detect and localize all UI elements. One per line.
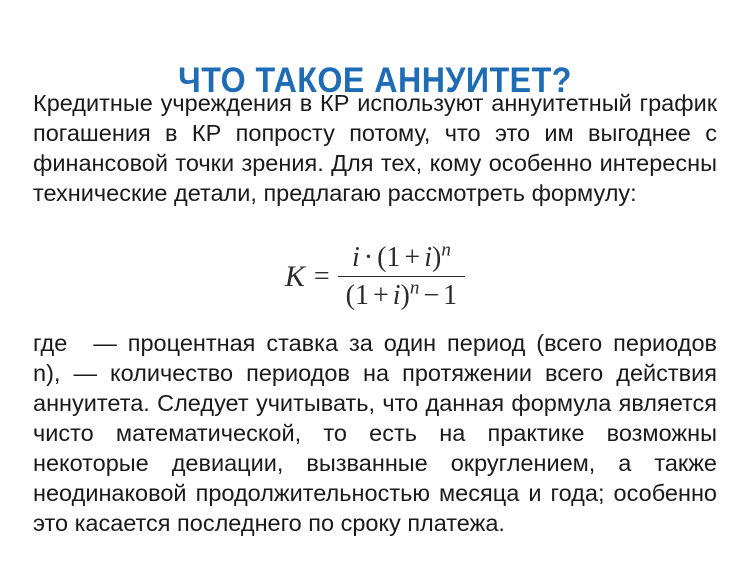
denominator-exponent: n: [410, 278, 420, 299]
denominator-one: 1: [355, 280, 369, 311]
numerator-one: 1: [386, 242, 400, 273]
numerator-close-paren: ): [432, 242, 441, 273]
annuity-coefficient-formula: K = i·(1+i)n (1+i)n−1: [285, 244, 465, 310]
where-description: — процентная ставка за один период (всег…: [33, 330, 717, 536]
article-body: Кредитные учреждения в КР используют анн…: [33, 88, 717, 208]
article-body-lower: где— процентная ставка за один период (в…: [33, 318, 717, 538]
paragraph-intro: Кредитные учреждения в КР используют анн…: [33, 88, 717, 208]
numerator-open-paren: (: [377, 242, 386, 273]
numerator-rate-2: i: [424, 242, 432, 273]
where-keyword: где: [33, 330, 67, 356]
denominator-plus-operator: +: [369, 280, 393, 311]
denominator-minus-operator: −: [419, 280, 443, 311]
numerator-plus-operator: +: [400, 242, 424, 273]
paragraph-where: где— процентная ставка за один период (в…: [33, 328, 717, 538]
document-page: ЧТО ТАКОЕ АННУИТЕТ? Кредитные учреждения…: [0, 0, 750, 562]
numerator-dot-operator: ·: [360, 242, 377, 273]
formula-equals-sign: =: [312, 263, 338, 291]
denominator-rate: i: [393, 280, 401, 311]
denominator-close-paren: ): [401, 280, 410, 311]
denominator-open-paren: (: [346, 280, 355, 311]
formula-fraction: i·(1+i)n (1+i)n−1: [338, 244, 466, 310]
formula-lhs: K: [285, 262, 312, 292]
numerator-rate: i: [352, 242, 360, 273]
denominator-one-end: 1: [443, 280, 457, 311]
formula-numerator: i·(1+i)n: [344, 244, 459, 276]
numerator-exponent: n: [441, 240, 451, 261]
formula-block: K = i·(1+i)n (1+i)n−1: [0, 244, 750, 320]
formula-denominator: (1+i)n−1: [338, 276, 466, 310]
